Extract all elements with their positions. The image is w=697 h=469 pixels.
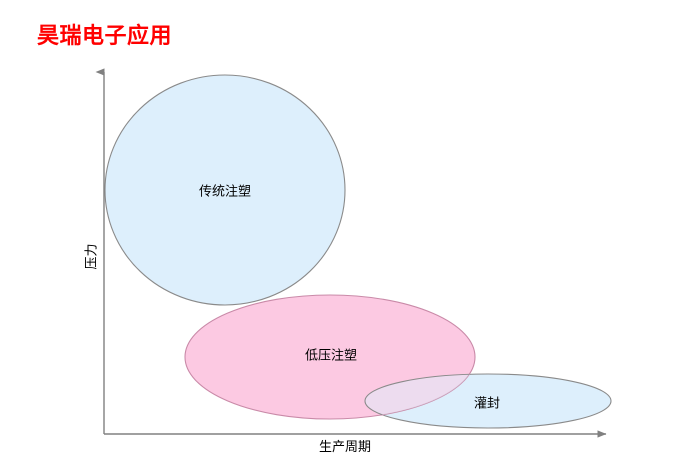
bubble-label-traditional-injection: 传统注塑 [199, 186, 251, 199]
bubble-label-potting: 灌封 [474, 398, 500, 411]
x-axis-label: 生产周期 [319, 441, 371, 454]
slide-canvas: 昊瑞电子应用 传统注塑 低压注塑 灌封 生产周期 压力 [0, 0, 697, 469]
y-axis-label-text: 压力 [86, 243, 99, 269]
bubble-label-low-pressure-injection: 低压注塑 [305, 350, 357, 363]
bubble-chart-plot [0, 0, 697, 469]
y-axis-label: 压力 [79, 250, 105, 263]
